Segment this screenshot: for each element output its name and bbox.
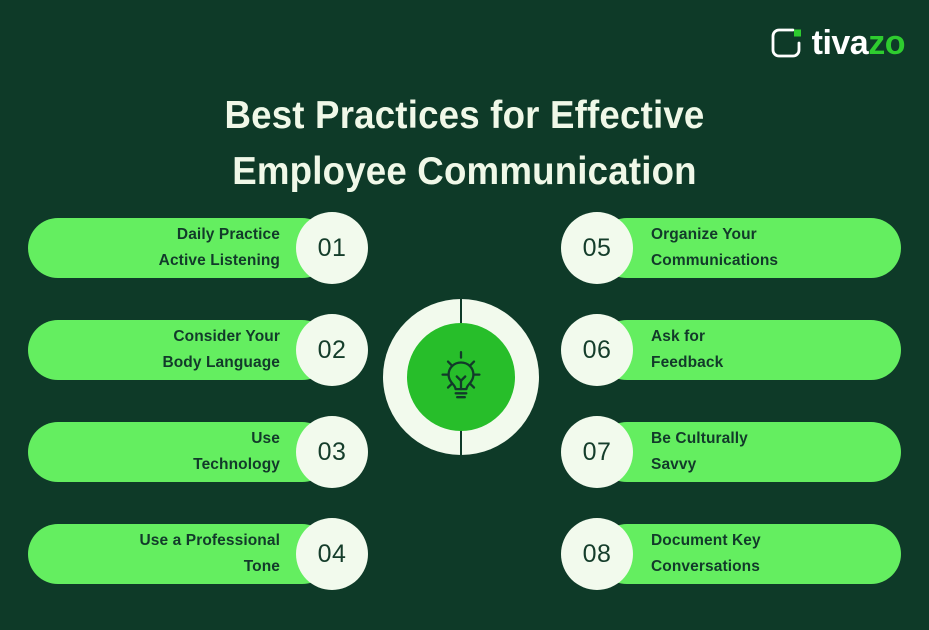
practice-label-line-2: Body Language [162,350,280,376]
right-practice-column: Organize Your Communications 05 Ask for … [561,212,901,590]
practice-item-03[interactable]: Use Technology 03 [28,416,368,488]
practice-label: Ask for Feedback [651,324,723,376]
practice-pill: Be Culturally Savvy [597,422,901,482]
brand-logo: tivazo [769,26,905,60]
practice-label-line-2: Active Listening [159,248,280,274]
practice-number-badge: 06 [561,314,633,386]
practice-label-line-1: Use [193,426,280,452]
left-practice-column: Daily Practice Active Listening 01 Consi… [28,212,368,590]
practice-label-line-1: Document Key [651,528,761,554]
page-title: Best Practices for Effective Employee Co… [28,88,901,199]
practice-number-badge: 04 [296,518,368,590]
practice-label: Use Technology [193,426,280,478]
practice-label-line-2: Technology [193,452,280,478]
practice-label-line-1: Consider Your [162,324,280,350]
practice-number-badge: 08 [561,518,633,590]
practice-pill: Daily Practice Active Listening [28,218,332,278]
practice-pill: Consider Your Body Language [28,320,332,380]
brand-name-accent: zo [868,24,905,62]
practice-label: Use a Professional Tone [140,528,281,580]
practice-item-02[interactable]: Consider Your Body Language 02 [28,314,368,386]
page-title-line-1: Best Practices for Effective [28,88,901,143]
practice-label-line-1: Daily Practice [159,222,280,248]
practice-pill: Ask for Feedback [597,320,901,380]
lightbulb-icon [425,341,497,413]
brand-name-primary: tiva [812,24,869,62]
practice-label-line-1: Ask for [651,324,723,350]
practice-item-08[interactable]: Document Key Conversations 08 [561,518,901,590]
practice-label: Consider Your Body Language [162,324,280,376]
practice-label: Organize Your Communications [651,222,778,274]
practice-item-01[interactable]: Daily Practice Active Listening 01 [28,212,368,284]
practice-label-line-2: Communications [651,248,778,274]
practice-label-line-2: Conversations [651,554,761,580]
practice-number-badge: 07 [561,416,633,488]
practice-label-line-1: Be Culturally [651,426,748,452]
practice-number-badge: 03 [296,416,368,488]
page-title-line-2: Employee Communication [28,144,901,199]
practice-label-line-1: Use a Professional [140,528,281,554]
practice-pill: Use a Professional Tone [28,524,332,584]
practice-item-04[interactable]: Use a Professional Tone 04 [28,518,368,590]
practice-label: Document Key Conversations [651,528,761,580]
practice-item-05[interactable]: Organize Your Communications 05 [561,212,901,284]
practice-label-line-2: Savvy [651,452,748,478]
practice-label: Daily Practice Active Listening [159,222,280,274]
practice-label: Be Culturally Savvy [651,426,748,478]
practice-item-06[interactable]: Ask for Feedback 06 [561,314,901,386]
center-inner-circle [407,323,515,431]
center-emblem [383,291,539,460]
practice-pill: Document Key Conversations [597,524,901,584]
practice-pill: Use Technology [28,422,332,482]
infographic-canvas: tivazo Best Practices for Effective Empl… [0,0,929,630]
practice-label-line-2: Tone [140,554,281,580]
practice-label-line-2: Feedback [651,350,723,376]
rounded-square-bracket-icon [769,26,803,60]
practice-item-07[interactable]: Be Culturally Savvy 07 [561,416,901,488]
practice-pill: Organize Your Communications [597,218,901,278]
practice-number-badge: 02 [296,314,368,386]
practice-label-line-1: Organize Your [651,222,778,248]
practice-number-badge: 01 [296,212,368,284]
brand-wordmark: tivazo [812,26,905,60]
practice-number-badge: 05 [561,212,633,284]
